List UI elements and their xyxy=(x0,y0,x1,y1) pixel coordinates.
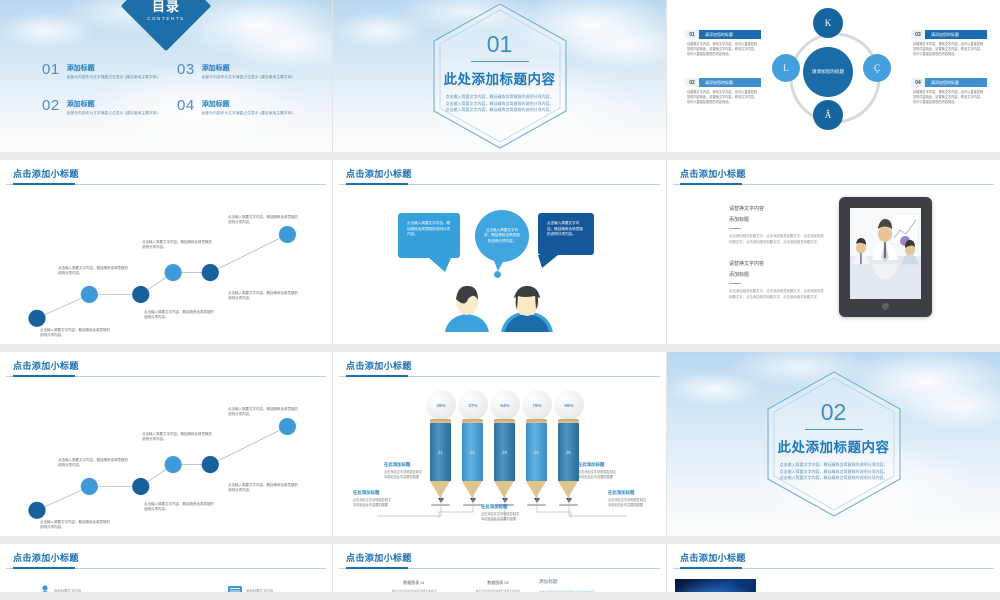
person-icon xyxy=(40,585,50,597)
document-icon xyxy=(228,586,242,596)
bubble-text: 点击输入简要文字内容，概括精炼含简意赅的说明分项内容。 xyxy=(484,228,520,245)
slide-thumbnail-3-circle-diagram[interactable]: K L Ç Â 请添加您的标题 01 请添加您的标题 请替换文字内容，修改文字内… xyxy=(667,0,1000,160)
slide-thumbnail-7-step-chart[interactable]: 点击添加小标题 点击输入简要文字内容，概括精炼含简意赅的说明分项内容。 点击输入… xyxy=(0,352,333,544)
info-block-01-body: 请替换文字内容，修改文字内容，也可以直接复制您的内容到此。请替换文字内容，修改文… xyxy=(687,42,759,57)
caption-title: 在此添加标题 xyxy=(608,490,648,496)
node-letter: Ç xyxy=(874,63,880,73)
icon-list-label-1: 添加标题文字内容 xyxy=(54,588,81,593)
block-number: 01 xyxy=(685,30,699,39)
step-caption-3: 点击输入简要文字内容，概括精炼含简意赅的说明分项内容。 xyxy=(144,502,216,513)
block-title: 请添加您的标题 xyxy=(699,78,761,87)
icon-list-label-2: 添加标题文字内容 xyxy=(246,588,273,593)
text-block-2: 请替换文字内容 添加标题 点击添加相关标题文字，点击添加相关标题文字，点击添加相… xyxy=(729,260,829,300)
pencil-body: 01 xyxy=(430,423,451,481)
step-caption-4: 点击输入简要文字内容，概括精炼含简意赅的说明分项内容。 xyxy=(142,432,214,443)
toc-desc: 此部分内容作为文字铺直占位显示 (建议使用主题字体) xyxy=(202,75,293,80)
block-title: 请添加您的标题 xyxy=(925,78,987,87)
tablet-home-button-icon xyxy=(882,303,889,310)
caption-title: 在此添加标题 xyxy=(384,462,424,468)
step-caption-2: 点击输入简要文字内容，概括精炼含简意赅的说明分项内容。 xyxy=(58,458,130,469)
section-desc: 点击输入简要文字内容，概括精炼含简意赅的说明分项内容，点击输入简要文字内容，概括… xyxy=(446,94,554,113)
bubble-dot xyxy=(494,271,501,278)
info-block-04-body: 请替换文字内容，修改文字内容，也可以直接复制您的内容到此。请替换文字内容，修改文… xyxy=(913,90,985,105)
step-caption-4: 点击输入简要文字内容，概括精炼含简意赅的说明分项内容。 xyxy=(142,240,214,251)
bubble-tail-left-icon xyxy=(429,258,451,272)
center-label-text: 请添加您的标题 xyxy=(812,69,844,76)
text-block-1-body: 点击添加相关标题文字，点击添加相关标题文字，点击添加相关标题文字，点击添加相关标… xyxy=(729,234,824,245)
toc-title: 添加标题 xyxy=(202,99,293,109)
bubble-tail-right-icon xyxy=(538,255,558,268)
step-caption-1: 点击输入简要文字内容，概括精炼含简意赅的说明分项内容。 xyxy=(40,328,112,339)
pencil-index: 04 xyxy=(534,450,539,455)
header-title: 点击添加小标题 xyxy=(13,167,79,180)
tablet-device xyxy=(839,197,932,317)
text-block-1-line2: 添加标题 xyxy=(729,216,829,223)
toc-number: 01 xyxy=(42,62,60,77)
caption-body: 点击添加文字说明或复制文本粘贴自此内容要前图要 xyxy=(353,498,393,508)
speech-bubble-right[interactable]: 点击输入简要文字内容，概括精炼含简意赅的说明分项内容。 xyxy=(538,213,594,255)
text-block-2-line1: 请替换文字内容 xyxy=(729,260,829,267)
step-caption-6: 点击输入简要文字内容，概括精炼含简意赅的说明分项内容。 xyxy=(228,407,300,418)
data-chart-title-1: 数据图表 01 xyxy=(369,580,459,586)
header-title: 点击添加小标题 xyxy=(680,551,746,564)
section-title: 此处添加标题内容 xyxy=(778,436,890,456)
section-number: 01 xyxy=(487,33,513,56)
slide-thumbnail-11-data-charts[interactable]: 点击添加小标题 数据图表 01 单击此处添加标题或者详细文本描述 数据图表 02… xyxy=(333,544,667,600)
caption-body: 点击添加文字说明或复制文本粘贴自此内容要前图要 xyxy=(384,470,424,480)
header-title: 点击添加小标题 xyxy=(346,359,412,372)
divider-rule xyxy=(805,429,863,431)
block-number: 04 xyxy=(911,78,925,87)
slide-thumbnail-4-step-chart[interactable]: 点击添加小标题 点击输入简要文字内容，概括精炼含简意赅的说明分项内容。 点击输入… xyxy=(0,160,333,352)
toc-title: 添加标题 xyxy=(202,63,293,73)
pct-bubble-5: 96% xyxy=(554,390,584,420)
bubble-tail-center-icon xyxy=(493,258,507,272)
slide-header: 点击添加小标题 xyxy=(333,352,666,377)
header-accent-rule xyxy=(346,375,408,377)
people-group-icon xyxy=(441,286,559,332)
node-a-circumflex[interactable]: Â xyxy=(813,100,843,130)
pct-bubble-3: 54% xyxy=(490,390,520,420)
toc-desc: 此部分内容作为文字铺直占位显示 (建议使用主题字体) xyxy=(67,111,158,116)
toc-title: 添加标题 xyxy=(67,63,158,73)
text-divider xyxy=(729,283,741,284)
info-block-02-body: 请替换文字内容，修改文字内容，也可以直接复制您的内容到此。请替换文字内容，修改文… xyxy=(687,90,759,105)
text-block-1: 请替换文字内容 添加标题 点击添加相关标题文字，点击添加相关标题文字，点击添加相… xyxy=(729,205,829,245)
section-title: 此处添加标题内容 xyxy=(444,68,556,88)
block-number: 02 xyxy=(685,78,699,87)
step-caption-5: 点击输入简要文字内容，概括精炼含简意赅的说明分项内容。 xyxy=(228,291,300,302)
header-accent-rule xyxy=(680,183,742,185)
pencil-body: 03 xyxy=(494,423,515,481)
toc-number: 03 xyxy=(177,62,195,77)
slide-header: 点击添加小标题 xyxy=(0,544,332,569)
text-divider xyxy=(729,228,741,229)
block-number: 03 xyxy=(911,30,925,39)
pencil-index: 02 xyxy=(470,450,475,455)
divider-rule xyxy=(471,61,529,63)
header-accent-rule xyxy=(346,183,408,185)
step-caption-6: 点击输入简要文字内容，概括精炼含简意赅的说明分项内容。 xyxy=(228,215,300,226)
toc-desc: 此部分内容作为文字铺直占位显示 (建议使用主题字体) xyxy=(67,75,158,80)
step-caption-2: 点击输入简要文字内容，概括精炼含简意赅的说明分项内容。 xyxy=(58,266,130,277)
text-block-2-line2: 添加标题 xyxy=(729,271,829,278)
info-block-02-header[interactable]: 02 请添加您的标题 xyxy=(685,78,761,87)
slide-header: 点击添加小标题 xyxy=(667,544,1000,569)
header-title: 点击添加小标题 xyxy=(13,551,79,564)
toc-number: 02 xyxy=(42,98,60,113)
header-title: 点击添加小标题 xyxy=(680,167,746,180)
info-block-01-header[interactable]: 01 请添加您的标题 xyxy=(685,30,761,39)
caption-body: 点击添加文字说明或复制文本粘贴自此内容要前图要 xyxy=(578,470,618,480)
data-chart-title-2: 数据图表 02 xyxy=(453,580,543,586)
caption-title: 在此添加标题 xyxy=(353,490,393,496)
center-label[interactable]: 请添加您的标题 xyxy=(803,47,853,97)
slide-thumbnail-2-section-01[interactable]: 01 此处添加标题内容 点击输入简要文字内容，概括精炼含简意赅的说明分项内容，点… xyxy=(333,0,667,160)
pencil-body: 04 xyxy=(526,423,547,481)
slide-thumbnail-12-image-text[interactable]: 点击添加小标题 文字内容 xyxy=(667,544,1000,600)
node-l[interactable]: L xyxy=(772,54,800,82)
pct-bubble-4: 79% xyxy=(522,390,552,420)
slide-header: 点击添加小标题 xyxy=(333,160,666,185)
header-accent-rule xyxy=(346,567,408,569)
header-accent-rule xyxy=(680,567,742,569)
slide-thumbnail-1-contents[interactable]: 目录 CONTENTS 01 添加标题 此部分内容作为文字铺直占位显示 (建议使… xyxy=(0,0,333,160)
text-block-2-body: 点击添加相关标题文字，点击添加相关标题文字，点击添加相关标题文字，点击添加相关标… xyxy=(729,289,824,300)
data-chart-side-sub: 单击此处添加标题或者详细文本描述内容文字 xyxy=(539,590,649,594)
data-chart-side-title: 添加标题 xyxy=(539,579,557,585)
office-photo xyxy=(850,208,921,299)
pencil-caption-3: 在此添加标题 点击添加文字说明或复制文本粘贴自此内容要前图要 xyxy=(481,504,521,522)
block-title: 请添加您的标题 xyxy=(925,30,987,39)
pencil-body: 05 xyxy=(558,423,579,481)
toc-list: 01 添加标题 此部分内容作为文字铺直占位显示 (建议使用主题字体) 03 添加… xyxy=(42,62,302,134)
pencil-caption-2: 在此添加标题 点击添加文字说明或复制文本粘贴自此内容要前图要 xyxy=(384,462,424,480)
caption-body: 点击添加文字说明或复制文本粘贴自此内容要前图要 xyxy=(481,512,521,522)
header-title: 点击添加小标题 xyxy=(346,551,412,564)
block-title: 请添加您的标题 xyxy=(699,30,761,39)
pencil-index: 01 xyxy=(438,450,443,455)
tablet-screen xyxy=(850,208,921,299)
slide-thumbnail-8-pencil-chart[interactable]: 点击添加小标题 26% 37% 54% 79% 96% 01 02 xyxy=(333,352,667,544)
caption-title: 在此添加标题 xyxy=(481,504,521,510)
toc-item-01[interactable]: 01 添加标题 此部分内容作为文字铺直占位显示 (建议使用主题字体) xyxy=(42,62,167,98)
pencil-caption-4: 在此添加标题 点击添加文字说明或复制文本粘贴自此内容要前图要 xyxy=(578,462,618,480)
info-block-04-header[interactable]: 04 请添加您的标题 xyxy=(911,78,987,87)
header-accent-rule xyxy=(13,567,75,569)
pencil-body: 02 xyxy=(462,423,483,481)
node-k[interactable]: K xyxy=(813,8,843,38)
slide-thumbnail-9-section-02[interactable]: 02 此处添加标题内容 点击输入简要文字内容，概括精炼含简意赅的说明分项内容，点… xyxy=(667,352,1000,544)
pct-bubble-1: 26% xyxy=(426,390,456,420)
decorative-blue-image xyxy=(675,579,756,600)
slide-header: 点击添加小标题 xyxy=(0,352,332,377)
toc-desc: 此部分内容作为文字铺直占位显示 (建议使用主题字体) xyxy=(202,111,293,116)
pencil-index: 03 xyxy=(502,450,507,455)
info-block-03-header[interactable]: 03 请添加您的标题 xyxy=(911,30,987,39)
toc-number: 04 xyxy=(177,98,195,113)
slide-thumbnail-5-speech-bubbles[interactable]: 点击添加小标题 点击输入简要文字内容，概括精炼含简意赅的说明分项内容。 点击输入… xyxy=(333,160,667,352)
bubble-text: 点击输入简要文字内容，概括精炼含简意赅的说明分项内容。 xyxy=(547,221,583,236)
header-title: 点击添加小标题 xyxy=(13,359,79,372)
pencil-caption-5: 在此添加标题 点击添加文字说明或复制文本粘贴自此内容要前图要 xyxy=(608,490,648,508)
data-chart-sub-2: 单击此处添加标题或者详细文本描述 xyxy=(453,589,543,593)
image-caption: 文字内容 xyxy=(767,594,785,600)
pencil-caption-1: 在此添加标题 点击添加文字说明或复制文本粘贴自此内容要前图要 xyxy=(353,490,393,508)
slide-thumbnail-10-icon-list[interactable]: 点击添加小标题 添加标题文字内容 添加标题文字内容 xyxy=(0,544,333,600)
toc-item-02[interactable]: 02 添加标题 此部分内容作为文字铺直占位显示 (建议使用主题字体) xyxy=(42,98,167,134)
slide-thumbnail-6-tablet[interactable]: 点击添加小标题 请替换文字内容 添加标题 点击添加相关标题文字，点击添加相关标题… xyxy=(667,160,1000,352)
slide-header: 点击添加小标题 xyxy=(0,160,332,185)
step-caption-5: 点击输入简要文字内容，概括精炼含简意赅的说明分项内容。 xyxy=(228,483,300,494)
pct-bubble-2: 37% xyxy=(458,390,488,420)
section-desc: 点击输入简要文字内容，概括精炼含简意赅的说明分项内容，点击输入简要文字内容，概括… xyxy=(780,462,888,481)
toc-title: 添加标题 xyxy=(67,99,158,109)
slide-header: 点击添加小标题 xyxy=(667,160,1000,185)
text-block-1-line1: 请替换文字内容 xyxy=(729,205,829,212)
bubble-text: 点击输入简要文字内容，概括精炼含简意赅的说明分项内容。 xyxy=(407,221,450,236)
step-caption-3: 点击输入简要文字内容，概括精炼含简意赅的说明分项内容。 xyxy=(144,310,216,321)
slide-header: 点击添加小标题 xyxy=(333,544,666,569)
node-c-cedilla[interactable]: Ç xyxy=(863,54,891,82)
speech-bubble-center[interactable]: 点击输入简要文字内容，概括精炼含简意赅的说明分项内容。 xyxy=(475,210,529,262)
contents-diamond: 目录 CONTENTS xyxy=(134,0,198,38)
node-letter: K xyxy=(825,18,832,28)
toc-item-03[interactable]: 03 添加标题 此部分内容作为文字铺直占位显示 (建议使用主题字体) xyxy=(177,62,302,98)
caption-title: 在此添加标题 xyxy=(578,462,618,468)
slide-thumbnail-grid: 目录 CONTENTS 01 添加标题 此部分内容作为文字铺直占位显示 (建议使… xyxy=(0,0,1000,600)
info-block-03-body: 请替换文字内容，修改文字内容，也可以直接复制您的内容到此。请替换文字内容，修改文… xyxy=(913,42,985,57)
section-number: 02 xyxy=(821,401,847,424)
data-chart-sub-1: 单击此处添加标题或者详细文本描述 xyxy=(369,589,459,593)
node-letter: L xyxy=(783,63,789,73)
node-letter: Â xyxy=(825,110,832,120)
step-caption-1: 点击输入简要文字内容，概括精炼含简意赅的说明分项内容。 xyxy=(40,520,112,531)
header-title: 点击添加小标题 xyxy=(346,167,412,180)
pencil-index: 05 xyxy=(566,450,571,455)
toc-item-04[interactable]: 04 添加标题 此部分内容作为文字铺直占位显示 (建议使用主题字体) xyxy=(177,98,302,134)
speech-bubble-left[interactable]: 点击输入简要文字内容，概括精炼含简意赅的说明分项内容。 xyxy=(398,213,460,258)
caption-body: 点击添加文字说明或复制文本粘贴自此内容要前图要 xyxy=(608,498,648,508)
